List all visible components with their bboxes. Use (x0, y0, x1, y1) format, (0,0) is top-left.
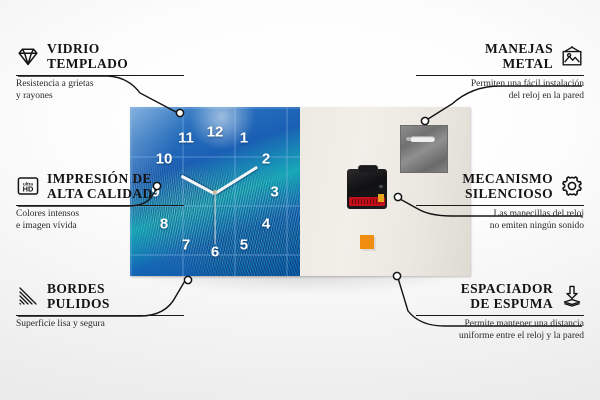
feature-desc-line1: Permite mantener una distancia (416, 319, 584, 331)
feature-title-line2: ALTA CALIDAD (47, 186, 153, 201)
svg-text:HD: HD (23, 185, 34, 194)
feature-title-line1: BORDES (47, 281, 110, 296)
clock-numeral-3: 3 (270, 184, 278, 199)
feature-desc: Resistencia a grietas y rayones (16, 79, 184, 102)
feature-title-line1: MANEJAS (485, 41, 553, 56)
feature-title-line1: VIDRIO (47, 41, 128, 56)
mechanism-shaft (379, 185, 383, 188)
feature-desc: Colores intensos e imagen vívida (16, 209, 184, 232)
feature-desc-line1: Superficie lisa y segura (16, 319, 184, 331)
feature-title-line2: DE ESPUMA (461, 296, 553, 311)
feature-title-line2: SILENCIOSO (462, 186, 553, 201)
feature-title-line1: ESPACIADOR (461, 281, 553, 296)
foam-spacer-square (360, 235, 374, 249)
feature-desc-line2: uniforme entre el reloj y la pared (416, 331, 584, 343)
feature-desc-line2: y rayones (16, 91, 184, 103)
feature-rule (416, 315, 584, 316)
feature-vidrio-templado[interactable]: VIDRIO TEMPLADO Resistencia a grietas y … (16, 41, 184, 102)
feature-rule (416, 205, 584, 206)
gear-icon (560, 174, 584, 198)
feature-rule (16, 205, 184, 206)
feature-title-line1: IMPRESIÓN DE (47, 171, 153, 186)
foam-spacer-arrow-icon (560, 284, 584, 308)
feature-rule (16, 315, 184, 316)
feature-espaciador-espuma[interactable]: ESPACIADOR DE ESPUMA Permite mantener un… (416, 281, 584, 342)
feature-desc: Permite mantener una distancia uniforme … (416, 319, 584, 342)
clock-center-cap (213, 190, 217, 194)
feature-desc-line1: Permiten una fácil instalación (416, 79, 584, 91)
diamond-icon (16, 44, 40, 68)
feature-mecanismo-silencioso[interactable]: MECANISMO SILENCIOSO Las manecillas del … (416, 171, 584, 232)
feature-title-line2: TEMPLADO (47, 56, 128, 71)
feature-desc-line1: Colores intensos (16, 209, 184, 221)
metal-hanger-plate (400, 125, 448, 173)
feature-title-line2: METAL (485, 56, 553, 71)
mechanism-hook (358, 165, 378, 172)
feature-rule (416, 75, 584, 76)
clock-numeral-4: 4 (262, 216, 270, 231)
feature-title-line2: PULIDOS (47, 296, 110, 311)
picture-frame-hanger-icon (560, 44, 584, 68)
feature-desc-line2: no emiten ningún sonido (416, 221, 584, 233)
mechanism-label (349, 197, 385, 206)
feature-title-line1: MECANISMO (462, 171, 553, 186)
clock-numeral-11: 11 (178, 131, 194, 146)
feature-desc: Permiten una fácil instalación del reloj… (416, 79, 584, 102)
feature-impresion-alta-calidad[interactable]: ultra HD IMPRESIÓN DE ALTA CALIDAD Color… (16, 171, 184, 232)
polished-edges-icon (16, 284, 40, 308)
clock-numeral-12: 12 (207, 125, 224, 140)
clock-numeral-7: 7 (182, 237, 190, 252)
feature-desc: Superficie lisa y segura (16, 319, 184, 331)
ultra-hd-icon: ultra HD (16, 174, 40, 198)
clock-mechanism (347, 169, 387, 209)
feature-desc-line1: Resistencia a grietas (16, 79, 184, 91)
hanger-slot (410, 136, 435, 142)
clock-numeral-6: 6 (211, 245, 219, 260)
feature-desc-line2: e imagen vívida (16, 221, 184, 233)
feature-bordes-pulidos[interactable]: BORDES PULIDOS Superficie lisa y segura (16, 281, 184, 331)
feature-desc-line1: Las manecillas del reloj (416, 209, 584, 221)
infographic-canvas: 12 1 2 3 4 5 6 7 8 9 10 11 (0, 0, 600, 400)
clock-numeral-2: 2 (262, 152, 270, 167)
clock-numeral-1: 1 (240, 131, 248, 146)
feature-desc-line2: del reloj en la pared (416, 91, 584, 103)
clock-numeral-10: 10 (156, 152, 173, 167)
feature-rule (16, 75, 184, 76)
clock-second-hand (214, 192, 215, 244)
clock-numeral-5: 5 (240, 237, 248, 252)
feature-desc: Las manecillas del reloj no emiten ningú… (416, 209, 584, 232)
feature-manejas-metal[interactable]: MANEJAS METAL Permiten una fácil instala… (416, 41, 584, 102)
